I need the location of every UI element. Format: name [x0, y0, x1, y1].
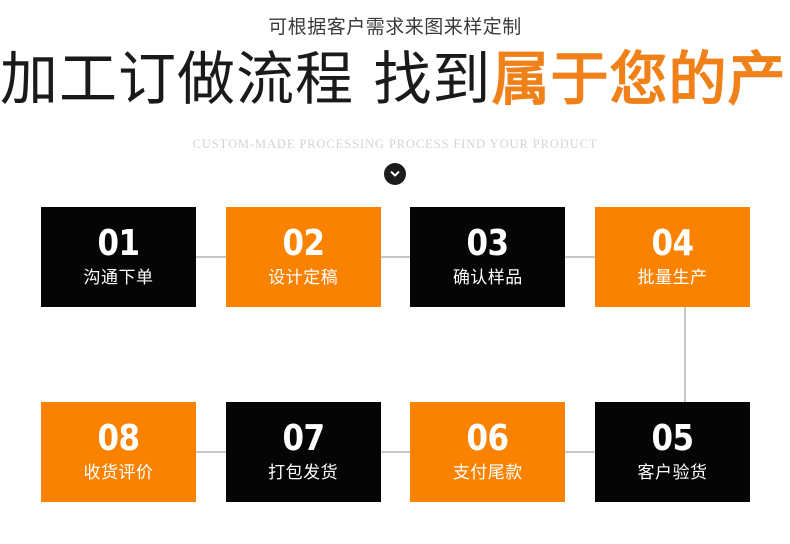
connector-03-04	[565, 256, 595, 258]
process-step-number: 03	[467, 225, 509, 263]
process-step-03[interactable]: 03 确认样品	[410, 207, 565, 307]
process-flow-diagram: 01 沟通下单 02 设计定稿 03 确认样品 04 批量生产 08 收货评价 …	[41, 207, 750, 502]
process-step-number: 07	[282, 420, 324, 458]
process-step-label: 打包发货	[268, 461, 338, 485]
process-step-08[interactable]: 08 收货评价	[41, 402, 196, 502]
connector-04-05	[684, 307, 686, 402]
chevron-down-badge[interactable]	[384, 163, 406, 185]
page-header: 可根据客户需求来图来样定制 加工订做流程 找到属于您的产品 CUSTOM-MAD…	[0, 0, 790, 185]
process-step-04[interactable]: 04 批量生产	[595, 207, 750, 307]
scroll-hint	[0, 163, 790, 185]
process-step-05[interactable]: 05 客户验货	[595, 402, 750, 502]
process-step-number: 06	[467, 420, 509, 458]
process-step-number: 05	[651, 420, 693, 458]
header-eyebrow: 可根据客户需求来图来样定制	[0, 14, 790, 40]
connector-02-03	[381, 256, 411, 258]
process-step-07[interactable]: 07 打包发货	[226, 402, 381, 502]
process-step-label: 确认样品	[453, 266, 523, 290]
process-step-06[interactable]: 06 支付尾款	[410, 402, 565, 502]
page-title: 加工订做流程 找到属于您的产品	[0, 46, 790, 127]
process-step-label: 设计定稿	[268, 266, 338, 290]
connector-01-02	[196, 256, 226, 258]
process-step-number: 08	[97, 420, 139, 458]
connector-06-05	[565, 451, 595, 453]
process-step-label: 批量生产	[637, 266, 707, 290]
page-title-primary: 加工订做流程 找到	[0, 45, 491, 113]
connector-08-07	[196, 451, 226, 453]
page-title-accent: 属于您的产品	[491, 45, 790, 113]
process-step-label: 收货评价	[84, 461, 154, 485]
chevron-down-icon	[389, 168, 401, 180]
process-step-number: 01	[97, 225, 139, 263]
process-step-number: 04	[651, 225, 693, 263]
process-step-01[interactable]: 01 沟通下单	[41, 207, 196, 307]
process-step-label: 沟通下单	[84, 266, 154, 290]
process-step-label: 客户验货	[637, 461, 707, 485]
page-subtitle-english: CUSTOM-MADE PROCESSING PROCESS FIND YOUR…	[0, 136, 790, 152]
process-step-number: 02	[282, 225, 324, 263]
connector-07-06	[381, 451, 411, 453]
process-step-02[interactable]: 02 设计定稿	[226, 207, 381, 307]
process-step-label: 支付尾款	[453, 461, 523, 485]
